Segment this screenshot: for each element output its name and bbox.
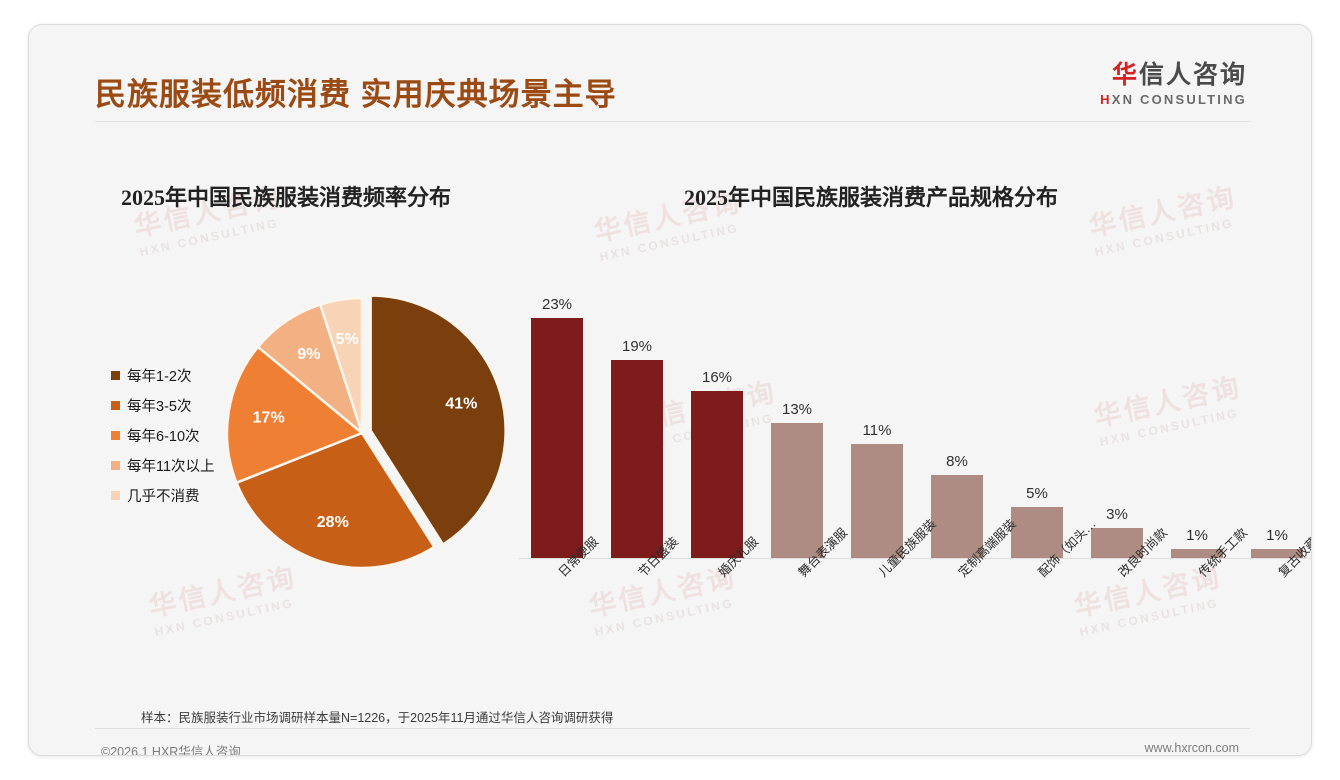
bar-rect[interactable]	[531, 318, 583, 559]
pie-legend-label: 每年6-10次	[127, 425, 200, 446]
bar-chart-title: 2025年中国民族服装消费产品规格分布	[684, 180, 1058, 212]
pie-slice-value-label: 28%	[317, 514, 349, 531]
pie-legend-swatch-icon	[111, 431, 120, 440]
bar-value-label: 16%	[702, 369, 732, 386]
pie-legend-swatch-icon	[111, 461, 120, 470]
bar-column[interactable]: 3%	[1091, 261, 1143, 559]
bar-value-label: 13%	[782, 401, 812, 418]
pie-legend-label: 几乎不消费	[127, 485, 200, 506]
slide-frame: 民族服装低频消费 实用庆典场景主导 华信人咨询 HXN CONSULTING 华…	[28, 24, 1312, 756]
brand-logo: 华信人咨询 HXN CONSULTING	[1100, 61, 1247, 107]
bar-value-label: 11%	[863, 422, 892, 439]
bar-column[interactable]: 23%	[531, 261, 583, 559]
bar-value-label: 23%	[542, 296, 572, 313]
pie-chart-title: 2025年中国民族服装消费频率分布	[121, 180, 451, 212]
pie-slice-value-label: 5%	[336, 331, 359, 348]
pie-legend-swatch-icon	[111, 401, 120, 410]
bar-rect[interactable]	[611, 360, 663, 559]
bar-column[interactable]: 1%	[1251, 261, 1303, 559]
brand-logo-en-highlight: H	[1100, 92, 1112, 107]
source-note: 样本：民族服装行业市场调研样本量N=1226，于2025年11月通过华信人咨询调…	[141, 707, 613, 726]
bar-value-label: 1%	[1186, 527, 1208, 544]
footer-divider	[95, 728, 1250, 729]
watermark-cn: 华信人咨询	[1085, 175, 1240, 244]
watermark-en: HXN CONSULTING	[1093, 214, 1243, 259]
bar-value-label: 5%	[1026, 485, 1048, 502]
bar-column[interactable]: 1%	[1171, 261, 1223, 559]
bar-value-label: 3%	[1106, 506, 1128, 523]
bar-rect[interactable]	[691, 391, 743, 559]
brand-logo-cn: 华信人咨询	[1100, 61, 1247, 90]
pie-slice-value-label: 41%	[445, 395, 477, 412]
bar-chart-axis-line	[519, 558, 1312, 559]
pie-chart: 每年1-2次每年3-5次每年6-10次每年11次以上几乎不消费 41%28%17…	[89, 240, 539, 640]
bar-value-label: 8%	[946, 453, 968, 470]
watermark-en: HXN CONSULTING	[598, 219, 748, 264]
bar-column[interactable]: 19%	[611, 261, 663, 559]
brand-logo-cn-rest: 信人咨询	[1139, 61, 1247, 89]
bar-plot-area: 23%19%16%13%11%8%5%3%1%1%	[519, 261, 1312, 559]
title-divider	[95, 121, 1250, 122]
pie-legend-label: 每年1-2次	[127, 365, 191, 386]
footer-website[interactable]: www.hxrcon.com	[1145, 741, 1239, 755]
bar-value-label: 1%	[1266, 527, 1288, 544]
bar-column[interactable]: 11%	[851, 261, 903, 559]
pie-slice-value-label: 17%	[253, 409, 285, 426]
pie-legend-swatch-icon	[111, 491, 120, 500]
pie-legend-label: 每年3-5次	[127, 395, 191, 416]
brand-logo-cn-highlight: 华	[1112, 61, 1139, 89]
brand-logo-en-rest: XN CONSULTING	[1112, 92, 1247, 107]
bar-column[interactable]: 16%	[691, 261, 743, 559]
bar-column[interactable]: 8%	[931, 261, 983, 559]
bar-rect[interactable]	[771, 423, 823, 559]
page-title: 民族服装低频消费 实用庆典场景主导	[95, 69, 617, 114]
bar-value-label: 19%	[622, 338, 652, 355]
watermark: 华信人咨询 HXN CONSULTING	[1085, 175, 1243, 259]
bar-column[interactable]: 5%	[1011, 261, 1063, 559]
pie-slice-value-label: 9%	[297, 346, 320, 363]
bar-chart: 23%19%16%13%11%8%5%3%1%1% 日常便服节日盛装婚庆礼服舞台…	[519, 261, 1312, 661]
footer-copyright: ©2026.1 HXR华信人咨询	[101, 741, 241, 756]
bar-column[interactable]: 13%	[771, 261, 823, 559]
pie-chart-svg: 41%28%17%9%5%	[197, 268, 527, 598]
pie-legend-swatch-icon	[111, 371, 120, 380]
brand-logo-en: HXN CONSULTING	[1100, 92, 1247, 107]
bar-rect[interactable]	[851, 444, 903, 559]
